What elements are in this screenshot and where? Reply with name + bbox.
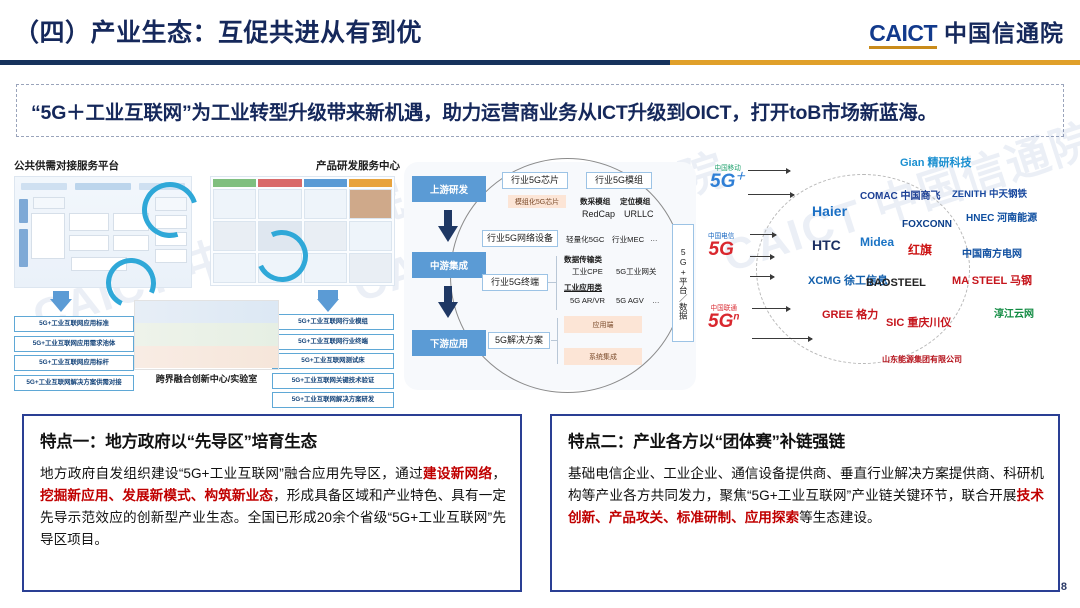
- rd-center-label-list: 5G+工业互联网行业模组 5G+工业互联网行业终端 5G+工业互联网测试床 5G…: [272, 314, 394, 412]
- logo-chinese-text: 中国信通院: [944, 14, 1064, 48]
- mock-cell: [349, 253, 392, 283]
- company-logo-cjyw: 淳江云网: [994, 310, 1034, 321]
- feature-box-two: 特点二：产业各方以“团体赛”补链强链 基础电信企业、工业企业、通信设备提供商、垂…: [550, 414, 1060, 592]
- chip-application-side: 应用端: [564, 316, 642, 333]
- arrow-b-head: [317, 299, 339, 312]
- mock-cell: [349, 189, 392, 219]
- mock-cell: [304, 253, 347, 283]
- banner-text: “5G＋工业互联网”为工业转型升级带来新机遇，助力运营商业务从ICT升级到OIC…: [17, 96, 937, 125]
- stage-upstream[interactable]: 上游研发: [412, 176, 486, 202]
- divider-segment-gold: [670, 60, 1080, 65]
- panel-value-chain: 上游研发 中游集成 下游应用 行业5G芯片 行业5G模组 模组化5G芯片 数采模…: [404, 162, 696, 390]
- page-title: （四）产业生态：互促共进从有到优: [14, 13, 422, 49]
- carrier-china-mobile[interactable]: 中国移动 5G＋: [710, 162, 745, 191]
- list-item[interactable]: 5G+工业互联网应用需求池体: [14, 336, 134, 352]
- company-logo-shandong-energy: 山东能源集团有限公司: [882, 356, 962, 364]
- company-logo-comac: COMAC 中国商飞: [860, 192, 941, 203]
- connector-line-4: [750, 256, 774, 257]
- list-item[interactable]: 5G+工业互联网解决方案研发: [272, 392, 394, 408]
- company-logo-foxconn: FOXCONN: [902, 220, 952, 231]
- stage-arrow-1: [438, 226, 458, 242]
- carrier-china-unicom-5g: 5Gn: [708, 312, 739, 331]
- stage-downstream[interactable]: 下游应用: [412, 330, 486, 356]
- box-industry-network-equipment[interactable]: 行业5G网络设备: [482, 230, 558, 247]
- text-industrial-cpe: 工业CPE: [572, 266, 603, 277]
- feature-one-text-2: ，: [492, 466, 506, 481]
- chip-system-integration: 系统集成: [564, 348, 642, 365]
- diagram-band: CAICT 中国信通院 CAICT 中国信通院 CAICT 中国信通院 公共供需…: [14, 152, 1066, 400]
- mock-block-a6: [113, 235, 149, 251]
- mock-lab-row-3: [135, 346, 278, 368]
- text-industry-mec: 行业MEC: [612, 234, 644, 245]
- innovation-lab-screenshot: [134, 300, 279, 370]
- text-urllc: URLLC: [624, 209, 654, 219]
- mock-col-1: [213, 179, 256, 283]
- text-5g-industrial-gateway: 5G工业网关: [616, 266, 657, 277]
- text-5g-arvr: 5G AR/VR: [570, 296, 605, 305]
- panel-public-platform-title: 公共供需对接服务平台: [14, 158, 204, 173]
- stage-arrow-2: [438, 302, 458, 318]
- feature-two-body: 基础电信企业、工业企业、通信设备提供商、垂直行业解决方案提供商、科研机构等产业各…: [568, 463, 1044, 529]
- company-logo-gree: GREE 格力: [822, 310, 878, 322]
- mock-lab-row-1: [135, 301, 278, 323]
- feature-one-text-1: 地方政府自发组织建设“5G+工业互联网”融合应用先导区，通过: [40, 466, 423, 481]
- arrow-a-head: [50, 299, 72, 312]
- company-logo-sic: SIC 重庆川仪: [886, 318, 951, 330]
- list-item[interactable]: 5G+工业互联网应用标准: [14, 316, 134, 332]
- slide-header: （四）产业生态：互促共进从有到优 CAICT 中国信通院: [0, 0, 1080, 62]
- carrier-china-telecom-5g: 5G: [708, 240, 734, 259]
- text-data-collection-module: 数采模组: [580, 196, 610, 207]
- mock-block-a2: [31, 213, 65, 259]
- mock-block-a5: [69, 235, 109, 251]
- divider-segment-blue: [0, 60, 670, 65]
- company-logo-hongqi: 红旗: [908, 244, 932, 257]
- box-industry-5g-chip[interactable]: 行业5G芯片: [502, 172, 568, 189]
- feature-box-one: 特点一：地方政府以“先导区”培育生态 地方政府自发组织建设“5G+工业互联网”融…: [22, 414, 522, 592]
- mock-cell: [213, 189, 256, 219]
- feature-one-highlight-2: 挖掘新应用、发展新模式、构筑新业态: [40, 488, 273, 503]
- company-logo-hnec: HNEC 河南能源: [966, 214, 1037, 225]
- box-industry-5g-module[interactable]: 行业5G模组: [586, 172, 652, 189]
- slide-root: （四）产业生态：互促共进从有到优 CAICT 中国信通院 “5G＋工业互联网”为…: [0, 0, 1080, 608]
- list-item[interactable]: 5G+工业互联网解决方案供需对接: [14, 375, 134, 391]
- page-number: 8: [1061, 581, 1067, 593]
- terminal-brace: [556, 256, 557, 310]
- carrier-china-unicom[interactable]: 中国联通 5Gn: [708, 302, 739, 331]
- chip-modular-5g-chip: 模组化5G芯片: [508, 195, 566, 208]
- mock-tab-1: [21, 183, 67, 190]
- feature-one-title: 特点一：地方政府以“先导区”培育生态: [40, 428, 506, 452]
- box-5g-solution[interactable]: 5G解决方案: [488, 332, 550, 349]
- logo-cloud-ellipse: [756, 174, 970, 364]
- company-logo-midea: Midea: [860, 236, 894, 249]
- list-item[interactable]: 5G+工业互联网行业终端: [272, 334, 394, 350]
- mock-sidetag-2: [19, 229, 28, 267]
- panel-rd-center-title: 产品研发服务中心: [210, 158, 400, 173]
- mock-cell: [304, 221, 347, 251]
- list-item[interactable]: 5G+工业互联网行业模组: [272, 314, 394, 330]
- box-industry-5g-terminal[interactable]: 行业5G终端: [482, 274, 548, 291]
- stage-midstream[interactable]: 中游集成: [412, 252, 486, 278]
- connector-line-6: [752, 308, 790, 309]
- text-lightweight-5gc: 轻量化5GC: [566, 234, 604, 245]
- list-item[interactable]: 5G+工业互联网应用标杆: [14, 355, 134, 371]
- mock-lab-row-2: [135, 323, 278, 345]
- panel-logo-cloud: 中国移动 5G＋ 中国电信 5G 中国联通 5Gn Gian 精研科技 COMA…: [704, 152, 1066, 392]
- carrier-china-mobile-5g: 5G＋: [710, 172, 745, 191]
- feature-one-body: 地方政府自发组织建设“5G+工业互联网”融合应用先导区，通过建设新网络，挖掘新应…: [40, 463, 506, 551]
- list-item[interactable]: 5G+工业互联网测试床: [272, 353, 394, 369]
- header-divider: [0, 60, 1080, 65]
- company-logo-zenith: ZENITH 中天钢铁: [952, 190, 1027, 200]
- company-logo-csg: 中国南方电网: [962, 250, 1022, 261]
- text-positioning-module: 定位模组: [620, 196, 650, 207]
- mock-block-a1: [33, 197, 65, 209]
- company-logo-htc: HTC: [812, 238, 841, 253]
- company-logo-haier: Haier: [812, 204, 847, 219]
- mock-col-head: [349, 179, 392, 187]
- mock-cell: [258, 189, 301, 219]
- mock-tab-2: [75, 183, 131, 190]
- text-network-ellipsis: …: [650, 234, 658, 243]
- key-message-banner: “5G＋工业互联网”为工业转型升级带来新机遇，助力运营商业务从ICT升级到OIC…: [16, 84, 1064, 137]
- mock-col-head: [213, 179, 256, 187]
- company-logo-baosteel: BAOSTEEL: [866, 278, 926, 290]
- connector-line-7: [752, 338, 812, 339]
- box-platform-data[interactable]: 5G+平台／数据: [672, 224, 694, 342]
- logo-abbr-text: CAICT: [869, 22, 937, 49]
- connector-line-3: [750, 234, 776, 235]
- connector-line-1: [748, 170, 790, 171]
- company-logo-masteel: MA STEEL 马钢: [952, 276, 1032, 288]
- connector-line-5: [750, 276, 774, 277]
- feature-two-text-2: 等生态建设。: [799, 510, 881, 525]
- text-data-transmission-group: 数据传输类: [564, 254, 602, 265]
- mock-col-4: [349, 179, 392, 283]
- feature-one-highlight-1: 建设新网络: [423, 466, 492, 481]
- terminal-brace-tick: [548, 282, 557, 283]
- mock-cell: [304, 189, 347, 219]
- mock-col-head: [304, 179, 347, 187]
- mock-cell: [213, 221, 256, 251]
- mock-cell: [349, 221, 392, 251]
- mock-block-a3: [69, 213, 109, 231]
- list-item[interactable]: 5G+工业互联网关键技术验证: [272, 373, 394, 389]
- text-industrial-application-group: 工业应用类: [564, 282, 602, 293]
- solution-brace: [557, 318, 558, 364]
- text-redcap: RedCap: [582, 209, 615, 219]
- text-application-ellipsis: …: [652, 296, 660, 305]
- mock-col-head: [258, 179, 301, 187]
- mock-sidetag-1: [19, 199, 28, 223]
- brand-logo: CAICT 中国信通院: [869, 14, 1064, 49]
- feature-two-text-1: 基础电信企业、工业企业、通信设备提供商、垂直行业解决方案提供商、科研机构等产业各…: [568, 466, 1044, 503]
- connector-line-2: [748, 194, 794, 195]
- mock-block-a11: [155, 249, 187, 263]
- carrier-china-telecom[interactable]: 中国电信 5G: [708, 230, 734, 259]
- innovation-lab-caption: 跨界融合创新中心/实验室: [134, 372, 279, 385]
- mock-col-3: [304, 179, 347, 283]
- company-logo-gian: Gian 精研科技: [900, 158, 972, 170]
- feature-two-title: 特点二：产业各方以“团体赛”补链强链: [568, 428, 1044, 452]
- mock-cell: [213, 253, 256, 283]
- text-5g-agv: 5G AGV: [616, 296, 644, 305]
- public-platform-label-list: 5G+工业互联网应用标准 5G+工业互联网应用需求池体 5G+工业互联网应用标杆…: [14, 316, 134, 394]
